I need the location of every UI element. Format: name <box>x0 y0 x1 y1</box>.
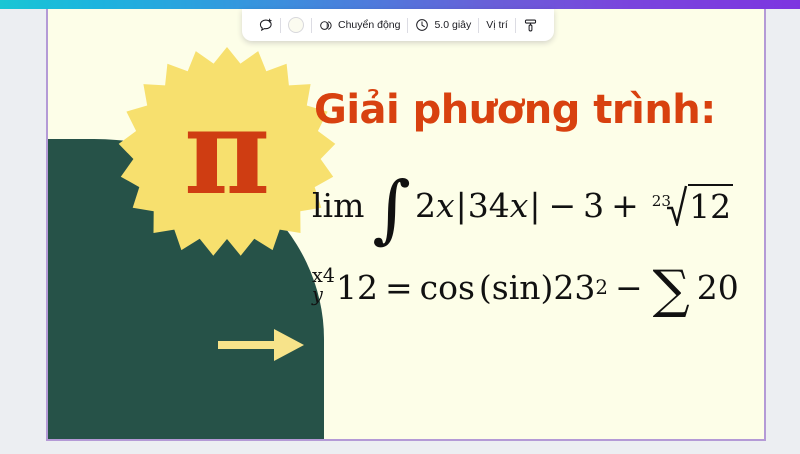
paren-open: ( <box>479 268 492 307</box>
clock-icon <box>415 18 429 32</box>
motion-icon <box>319 18 333 32</box>
equation-block[interactable]: lim ∫ 2 x | 34 x | − 3 + 23 12 <box>312 169 758 323</box>
duration-label: 5.0 giây <box>434 19 471 31</box>
variable-x-2: x <box>510 186 529 225</box>
floating-slide-toolbar[interactable]: Chuyển động 5.0 giây Vị trí <box>242 9 554 41</box>
variable-x-1: x <box>436 186 455 225</box>
lim-operator: lim <box>312 186 364 225</box>
minus-sign-1: − <box>548 186 576 225</box>
prescript-subscript: y <box>312 285 335 304</box>
motion-label: Chuyển động <box>338 19 400 31</box>
exponent-2: 2 <box>595 276 608 299</box>
top-accent-gradient-bar <box>0 0 800 9</box>
plus-sign: + <box>611 186 639 225</box>
color-swatch-circle[interactable] <box>288 17 304 33</box>
minus-sign-2: − <box>615 268 643 307</box>
term-12: 12 <box>336 268 378 307</box>
slide-headline[interactable]: Giải phương trình: <box>314 87 754 133</box>
sigma-symbol: ∑ <box>653 276 690 305</box>
format-painter-button[interactable] <box>516 13 545 37</box>
term-3: 3 <box>583 186 604 225</box>
slide-canvas[interactable]: π Giải phương trình: lim ∫ 2 x | 34 x | … <box>46 9 766 441</box>
right-arrow-icon[interactable] <box>216 325 306 365</box>
radical-sign-icon <box>666 184 688 226</box>
term-20: 20 <box>697 268 739 307</box>
duration-button[interactable]: 5.0 giây <box>408 13 478 37</box>
position-button[interactable]: Vị trí <box>479 13 515 37</box>
radicand-12: 12 <box>688 184 733 226</box>
equation-line-1: lim ∫ 2 x | 34 x | − 3 + 23 12 <box>312 169 758 241</box>
color-swatch-item[interactable] <box>281 13 311 37</box>
motion-button[interactable]: Chuyển động <box>312 13 407 37</box>
radical-expression: 23 12 <box>647 184 733 226</box>
abs-bar-open: | <box>455 186 468 225</box>
term-34: 34 <box>468 186 510 225</box>
comment-plus-icon <box>258 18 273 33</box>
prescript-stack: x4 y <box>312 266 335 304</box>
term-2: 2 <box>415 186 436 225</box>
cos-function: cos <box>420 268 475 307</box>
position-label: Vị trí <box>486 19 508 31</box>
term-23: 23 <box>553 268 595 307</box>
paint-roller-icon <box>523 18 538 33</box>
sin-function: sin <box>492 268 541 307</box>
paren-close: ) <box>541 268 554 307</box>
equation-line-2: x4 y 12 = cos ( sin ) 23 2 − ∑ 20 <box>312 251 758 323</box>
pi-symbol: π <box>112 41 342 271</box>
equals-sign: = <box>385 268 413 307</box>
abs-bar-close: | <box>528 186 541 225</box>
add-comment-button[interactable] <box>251 13 280 37</box>
integral-symbol: ∫ <box>372 189 411 230</box>
